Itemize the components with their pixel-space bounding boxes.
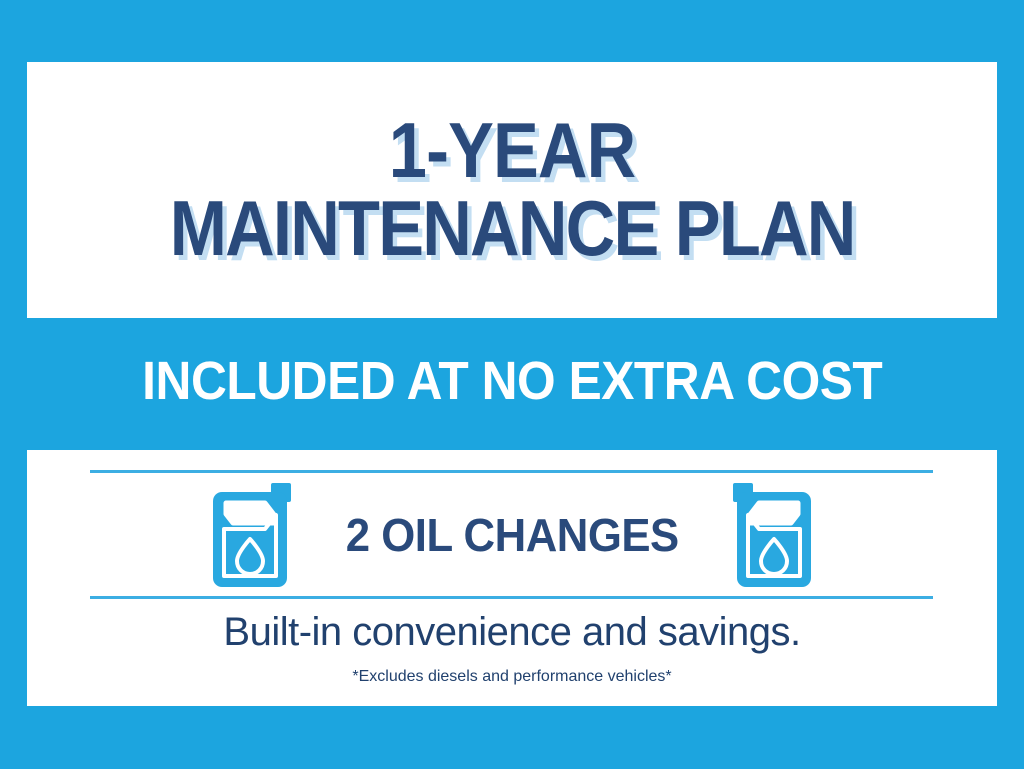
divider-top (90, 470, 933, 473)
oil-can-icon (209, 483, 295, 587)
headline-line-1: 1-YEAR (389, 115, 635, 187)
oil-can-icon (729, 483, 815, 587)
tagline-text: Built-in convenience and savings. (27, 610, 997, 655)
headline-line-2: MAINTENANCE PLAN (170, 193, 855, 265)
headline-card: 1-YEAR MAINTENANCE PLAN (27, 62, 997, 318)
promotional-poster: 1-YEAR MAINTENANCE PLAN INCLUDED AT NO E… (0, 0, 1024, 769)
detail-card: 2 OIL CHANGES Built-in convenience and s… (27, 450, 997, 706)
subtitle-text: INCLUDED AT NO EXTRA COST (142, 350, 882, 412)
divider-bottom (90, 596, 933, 599)
feature-label: 2 OIL CHANGES (346, 508, 679, 562)
fineprint-text: *Excludes diesels and performance vehicl… (27, 668, 997, 686)
subtitle-band: INCLUDED AT NO EXTRA COST (0, 332, 1024, 430)
feature-row: 2 OIL CHANGES (27, 480, 997, 590)
